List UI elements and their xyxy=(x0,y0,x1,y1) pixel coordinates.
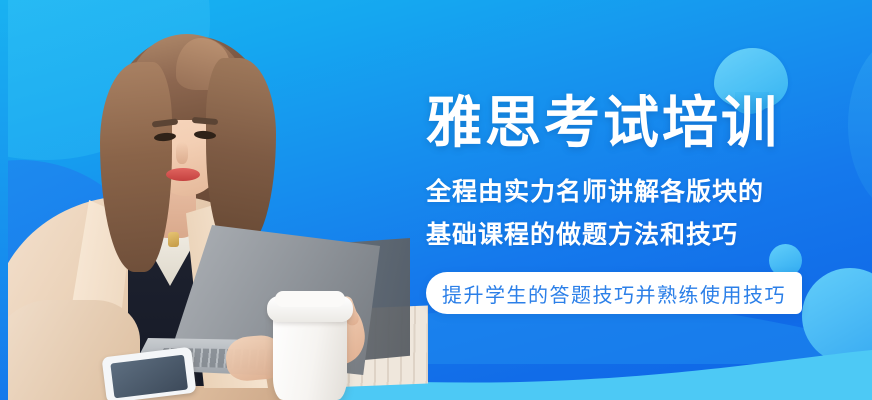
banner-text-content: 雅思考试培训 全程由实力名师讲解各版块的 基础课程的做题方法和技巧 提升学生的答… xyxy=(424,0,872,400)
hair-right-strand xyxy=(206,58,276,248)
coffee-cup-lid-top xyxy=(275,291,345,307)
ielts-training-banner: 雅思考试培训 全程由实力名师讲解各版块的 基础课程的做题方法和技巧 提升学生的答… xyxy=(0,0,872,400)
woman-at-laptop-photo xyxy=(0,0,428,400)
banner-tagline-text: 提升学生的答题技巧并熟练使用技巧 xyxy=(442,279,786,308)
banner-headline: 雅思考试培训 xyxy=(426,95,780,151)
banner-tagline-pill: 提升学生的答题技巧并熟练使用技巧 xyxy=(426,272,802,314)
banner-subtitle-line-1: 全程由实力名师讲解各版块的 xyxy=(426,180,764,205)
left-edge-blue-strip xyxy=(0,0,8,400)
lips xyxy=(166,168,200,181)
nose xyxy=(176,142,188,164)
banner-subtitle-line-2: 基础课程的做题方法和技巧 xyxy=(426,223,738,248)
smartphone-screen xyxy=(110,355,188,399)
necklace-pendant xyxy=(168,232,179,247)
photo-content xyxy=(0,0,428,400)
